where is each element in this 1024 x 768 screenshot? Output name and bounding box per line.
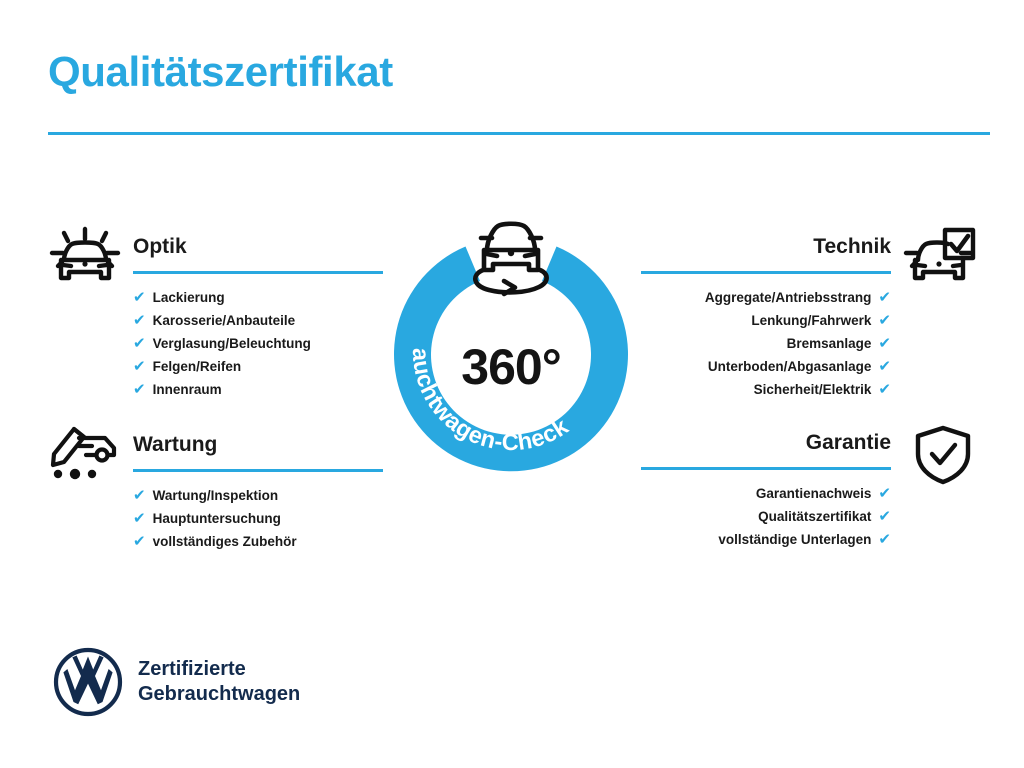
check-icon: ✔ bbox=[133, 511, 146, 526]
check-icon: ✔ bbox=[878, 290, 891, 305]
check-icon: ✔ bbox=[133, 359, 146, 374]
list-item: ✔ Innenraum bbox=[133, 378, 388, 401]
list-item-label: Felgen/Reifen bbox=[153, 355, 242, 378]
car-rotate-360-icon bbox=[461, 212, 561, 298]
list-item-label: vollständiges Zubehör bbox=[153, 530, 297, 553]
section-underline-wartung bbox=[133, 469, 383, 472]
list-item: ✔ vollständiges Zubehör bbox=[133, 530, 388, 553]
list-item-label: Garantienachweis bbox=[756, 482, 872, 505]
list-item-label: Hauptuntersuchung bbox=[153, 507, 281, 530]
section-header-optik: Optik bbox=[48, 232, 388, 274]
checklist-technik: Aggregate/Antriebsstrang ✔ Lenkung/Fahrw… bbox=[636, 274, 976, 401]
list-item: ✔ Felgen/Reifen bbox=[133, 355, 388, 378]
shield-check-icon bbox=[910, 422, 976, 491]
footer-brand-text: Zertifizierte Gebrauchtwagen bbox=[138, 657, 300, 707]
section-header-technik: Technik bbox=[636, 232, 976, 274]
list-item: Aggregate/Antriebsstrang ✔ bbox=[636, 286, 891, 309]
check-icon: ✔ bbox=[878, 486, 891, 501]
pencil-car-service-icon bbox=[48, 424, 122, 487]
list-item: ✔ Wartung/Inspektion bbox=[133, 484, 388, 507]
footer-brand: Zertifizierte Gebrauchtwagen bbox=[52, 646, 300, 718]
list-item-label: Verglasung/Beleuchtung bbox=[153, 332, 311, 355]
section-underline-optik bbox=[133, 271, 383, 274]
list-item: Unterboden/Abgasanlage ✔ bbox=[636, 355, 891, 378]
list-item: ✔ Karosserie/Anbauteile bbox=[133, 309, 388, 332]
list-item: Lenkung/Fahrwerk ✔ bbox=[636, 309, 891, 332]
list-item: Sicherheit/Elektrik ✔ bbox=[636, 378, 891, 401]
check-icon: ✔ bbox=[133, 336, 146, 351]
section-wartung: Wartung ✔ Wartung/Inspektion ✔ Hauptunte… bbox=[48, 430, 388, 553]
check-icon: ✔ bbox=[133, 382, 146, 397]
list-item-label: Bremsanlage bbox=[787, 332, 872, 355]
section-underline-technik bbox=[641, 271, 891, 274]
section-garantie: Garantie Garantienachweis ✔ Qualitätszer… bbox=[636, 428, 976, 551]
section-optik: Optik ✔ Lackierung ✔ Karosserie/Anbautei… bbox=[48, 232, 388, 401]
check-icon: ✔ bbox=[133, 488, 146, 503]
check-icon: ✔ bbox=[133, 290, 146, 305]
list-item-label: vollständige Unterlagen bbox=[718, 528, 871, 551]
list-item-label: Unterboden/Abgasanlage bbox=[708, 355, 872, 378]
badge-360-gebrauchtwagen-check: Gebrauchtwagen-Check 360° bbox=[383, 224, 639, 480]
list-item: Garantienachweis ✔ bbox=[636, 482, 891, 505]
check-icon: ✔ bbox=[878, 313, 891, 328]
check-icon: ✔ bbox=[878, 382, 891, 397]
list-item: Qualitätszertifikat ✔ bbox=[636, 505, 891, 528]
footer-line-1: Zertifizierte bbox=[138, 657, 300, 682]
section-underline-garantie bbox=[641, 467, 891, 470]
check-icon: ✔ bbox=[878, 532, 891, 547]
section-header-wartung: Wartung bbox=[48, 430, 388, 472]
list-item-label: Lackierung bbox=[153, 286, 225, 309]
title-divider bbox=[48, 132, 990, 135]
check-icon: ✔ bbox=[878, 359, 891, 374]
list-item: vollständige Unterlagen ✔ bbox=[636, 528, 891, 551]
list-item: ✔ Hauptuntersuchung bbox=[133, 507, 388, 530]
check-icon: ✔ bbox=[133, 534, 146, 549]
list-item: ✔ Verglasung/Beleuchtung bbox=[133, 332, 388, 355]
list-item: ✔ Lackierung bbox=[133, 286, 388, 309]
list-item-label: Innenraum bbox=[153, 378, 222, 401]
checklist-optik: ✔ Lackierung ✔ Karosserie/Anbauteile ✔ V… bbox=[48, 274, 388, 401]
list-item-label: Qualitätszertifikat bbox=[758, 505, 871, 528]
page-title: Qualitätszertifikat bbox=[48, 50, 393, 94]
list-item-label: Aggregate/Antriebsstrang bbox=[705, 286, 872, 309]
section-header-garantie: Garantie bbox=[636, 428, 976, 470]
section-technik: Technik Aggregate/Antriebsstrang ✔ Lenku… bbox=[636, 232, 976, 401]
check-icon: ✔ bbox=[878, 336, 891, 351]
certificate-page: Qualitätszertifikat Optik bbox=[0, 0, 1024, 768]
list-item-label: Lenkung/Fahrwerk bbox=[751, 309, 871, 332]
car-front-checkbox-icon bbox=[902, 226, 976, 293]
list-item-label: Karosserie/Anbauteile bbox=[153, 309, 296, 332]
car-front-shine-icon bbox=[48, 226, 122, 293]
footer-line-2: Gebrauchtwagen bbox=[138, 682, 300, 707]
volkswagen-logo-icon bbox=[52, 646, 124, 718]
check-icon: ✔ bbox=[133, 313, 146, 328]
check-icon: ✔ bbox=[878, 509, 891, 524]
list-item-label: Wartung/Inspektion bbox=[153, 484, 279, 507]
list-item-label: Sicherheit/Elektrik bbox=[754, 378, 872, 401]
list-item: Bremsanlage ✔ bbox=[636, 332, 891, 355]
